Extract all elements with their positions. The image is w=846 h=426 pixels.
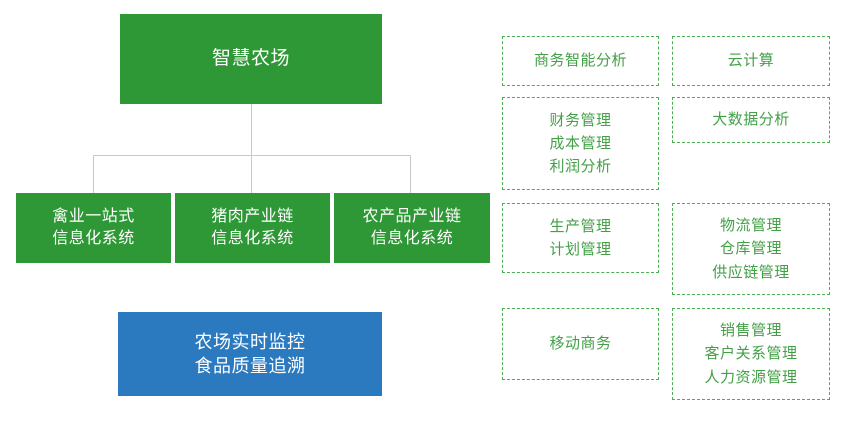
subsystem-node-agri-products[interactable]: 农产品产业链 信息化系统: [334, 193, 490, 263]
module-box-cloud-computing[interactable]: 云计算: [672, 36, 830, 86]
root-node-smart-farm[interactable]: 智慧农场: [120, 14, 382, 104]
module-box-finance[interactable]: 财务管理 成本管理 利润分析: [502, 97, 659, 190]
connector-branch-1: [251, 155, 252, 193]
module-box-sales[interactable]: 销售管理 客户关系管理 人力资源管理: [672, 308, 830, 400]
org-chart-diagram: 智慧农场 禽业一站式 信息化系统 猪肉产业链 信息化系统 农产品产业链 信息化系…: [0, 0, 846, 426]
module-box-production[interactable]: 生产管理 计划管理: [502, 203, 659, 273]
connector-branch-0: [93, 155, 94, 193]
subsystem-node-pork[interactable]: 猪肉产业链 信息化系统: [175, 193, 330, 263]
module-box-mobile-commerce[interactable]: 移动商务: [502, 308, 659, 380]
connector-root-vertical: [251, 104, 252, 156]
monitoring-node-realtime-traceability[interactable]: 农场实时监控 食品质量追溯: [118, 312, 382, 396]
module-box-business-intelligence[interactable]: 商务智能分析: [502, 36, 659, 86]
module-box-big-data[interactable]: 大数据分析: [672, 97, 830, 143]
connector-branch-2: [410, 155, 411, 193]
subsystem-node-poultry[interactable]: 禽业一站式 信息化系统: [16, 193, 171, 263]
module-box-logistics[interactable]: 物流管理 仓库管理 供应链管理: [672, 203, 830, 295]
